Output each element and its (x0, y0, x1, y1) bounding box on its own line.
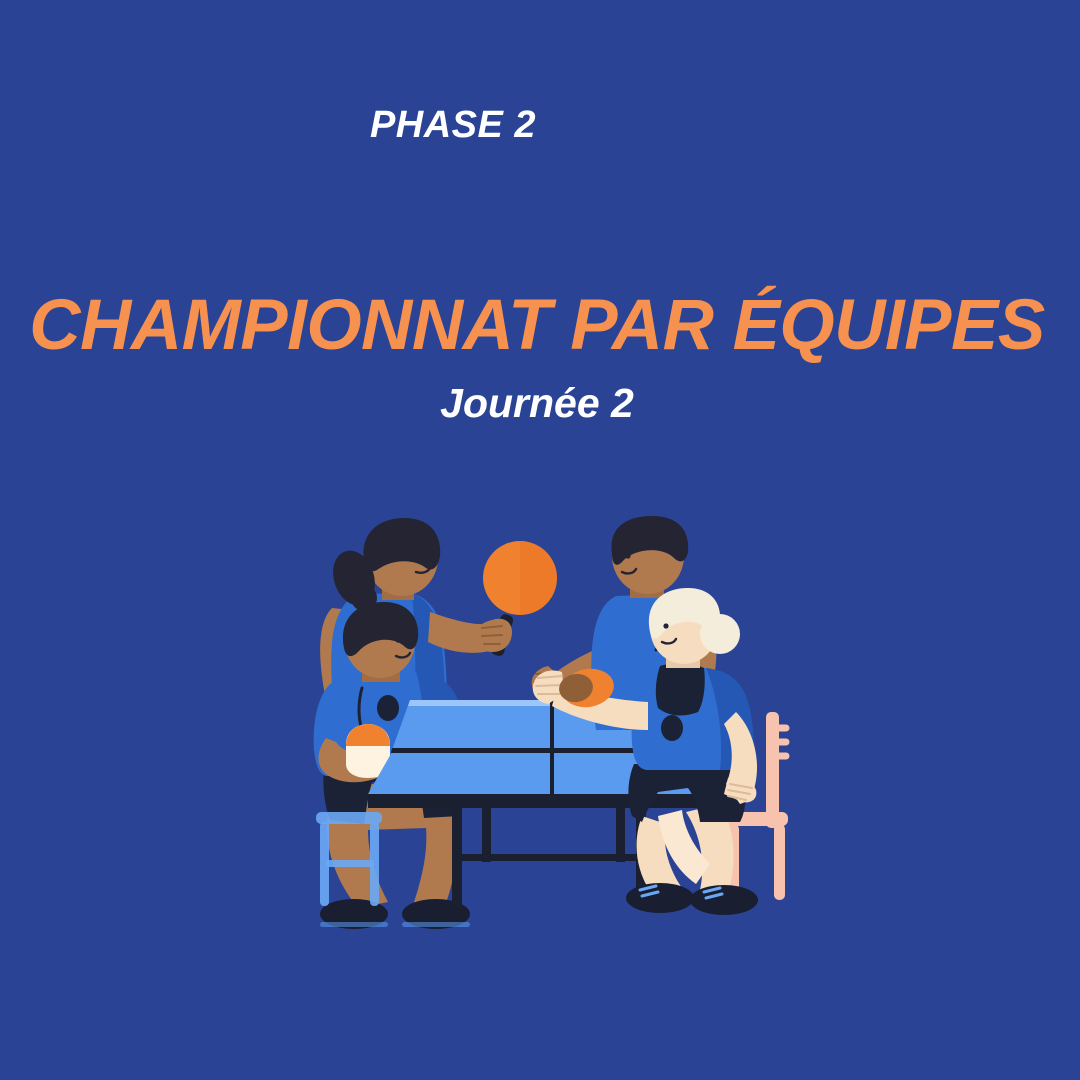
table-leg-back-left (482, 802, 491, 862)
illustration-svg (296, 516, 824, 942)
table-leg-back-right (616, 802, 625, 862)
seated-woman-right-inner-top (656, 663, 705, 715)
seated-woman-right-eye (663, 623, 668, 628)
poster-canvas: PHASE 2 CHAMPIONNAT PAR ÉQUIPES Journée … (0, 0, 1080, 1080)
seated-woman-shoe-right-sole (402, 922, 470, 927)
page-subtitle: Journée 2 (0, 380, 1077, 427)
standing-man-eye (625, 553, 630, 558)
seated-woman-eye (395, 637, 400, 642)
seated-woman-shirt-logo (377, 695, 399, 721)
stool-brace (326, 860, 374, 867)
seated-woman-hair-bun (351, 585, 377, 611)
standing-woman-eye (415, 553, 420, 558)
table-tennis-illustration (296, 516, 824, 942)
seated-woman-right-shoe-right (690, 885, 758, 915)
page-title: CHAMPIONNAT PAR ÉQUIPES (0, 288, 1077, 364)
seated-woman-right-logo (661, 715, 683, 741)
standing-woman-hand-grip (476, 619, 512, 652)
seated-woman-right-hair-bun (700, 614, 740, 654)
paddle-face-shadow (520, 541, 557, 615)
seated-woman-right-shoe-left (626, 883, 694, 913)
phase-label: PHASE 2 (0, 104, 993, 147)
table-cross-brace (456, 854, 642, 861)
seated-woman-shoe-left-sole (320, 922, 388, 927)
chair-leg-back (774, 824, 785, 900)
